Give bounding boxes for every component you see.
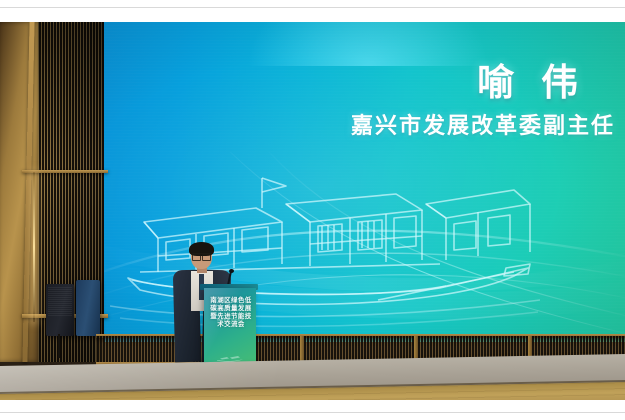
speaker-name-title: 喻 伟: [477, 52, 585, 106]
podium: 南湖区绿色低碳高质量发展暨先进节能技术交流会 绿色低碳 节能先行: [204, 288, 256, 368]
podium-banner-title: 南湖区绿色低碳高质量发展暨先进节能技术交流会: [210, 296, 252, 328]
wall-accent-light-strip: [33, 172, 35, 322]
frame-rule-bottom: [0, 412, 625, 413]
frame-rule-top: [0, 7, 625, 8]
speaker-grille: [48, 287, 72, 317]
photo-frame: 喻 伟 嘉兴市发展改革委副主任: [0, 0, 625, 420]
glasses-icon: [192, 253, 211, 259]
stage-monitor-speaker: [46, 284, 74, 336]
speaker-position-subtitle: 嘉兴市发展改革委副主任: [351, 108, 615, 140]
podium-banner-subtitle: 绿色低碳 节能先行: [209, 318, 252, 322]
microphone-head: [229, 269, 234, 273]
stage-photograph: 喻 伟 嘉兴市发展改革委副主任: [0, 22, 625, 400]
speaker-stand: [58, 334, 60, 358]
line-array-speaker: [76, 280, 100, 336]
